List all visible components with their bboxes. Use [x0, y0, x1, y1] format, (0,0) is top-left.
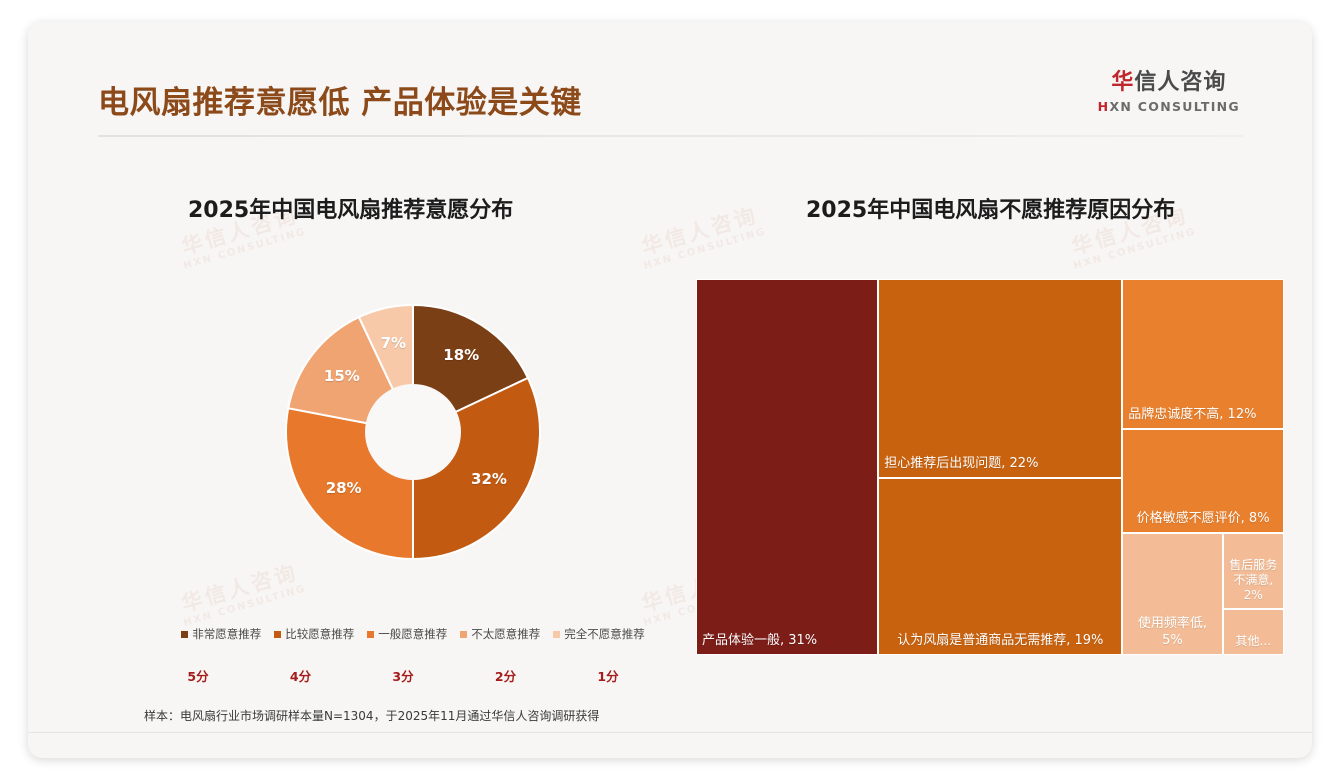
legend-swatch [181, 631, 188, 638]
treemap-cell[interactable]: 产品体验一般, 31% [696, 279, 878, 655]
score-label: 4分 [271, 666, 331, 685]
logo-chinese-rest: 信人咨询 [1134, 70, 1226, 95]
treemap-cell[interactable]: 其他... [1223, 609, 1284, 655]
donut-svg [268, 272, 558, 592]
score-label: 2分 [476, 666, 536, 685]
page-title: 电风扇推荐意愿低 产品体验是关键 [98, 77, 582, 122]
treemap-cell[interactable]: 品牌忠诚度不高, 12% [1122, 279, 1284, 429]
donut-slice-label: 28% [324, 479, 364, 497]
donut-legend: 非常愿意推荐比较愿意推荐一般愿意推荐不太愿意推荐完全不愿意推荐 [148, 626, 678, 642]
logo-chinese: 华信人咨询 [1098, 64, 1240, 96]
donut-slice-label: 18% [441, 346, 481, 364]
treemap-cell-label: 其他... [1227, 634, 1280, 649]
treemap-column: 售后服务不满意, 2% 其他... [1223, 533, 1284, 655]
treemap-cell-label: 担心推荐后出现问题, 22% [884, 456, 1116, 472]
treemap-cell[interactable]: 价格敏感不愿评价, 8% [1122, 429, 1284, 532]
treemap-cell[interactable]: 使用频率低, 5% [1122, 533, 1222, 655]
score-label: 3分 [373, 666, 433, 685]
treemap-cell-label: 品牌忠诚度不高, 12% [1128, 407, 1278, 423]
donut-hole [365, 384, 461, 480]
score-label: 1分 [578, 666, 638, 685]
treemap-cell-label: 使用频率低, 5% [1128, 616, 1216, 649]
treemap-cell[interactable]: 认为风扇是普通商品无需推荐, 19% [878, 478, 1122, 655]
legend-item[interactable]: 一般愿意推荐 [367, 626, 447, 642]
donut-slice-label: 7% [373, 334, 413, 352]
legend-label: 不太愿意推荐 [471, 626, 540, 642]
score-label: 5分 [168, 666, 228, 685]
left-chart-title: 2025年中国电风扇推荐意愿分布 [188, 192, 513, 224]
treemap-cell-label: 认为风扇是普通商品无需推荐, 19% [884, 633, 1116, 649]
treemap-row: 使用频率低, 5% 售后服务不满意, 2% 其他... [1122, 533, 1284, 655]
logo-chinese-accent: 华 [1111, 70, 1134, 95]
treemap-cell[interactable]: 售后服务不满意, 2% [1223, 533, 1284, 609]
treemap-cell-label: 售后服务不满意, 2% [1227, 558, 1280, 603]
legend-swatch [274, 631, 281, 638]
watermark-line1: 华信人咨询 [636, 203, 765, 261]
legend-swatch [460, 631, 467, 638]
watermark-line2: HXN CONSULTING [642, 226, 767, 272]
treemap-column: 品牌忠诚度不高, 12% 价格敏感不愿评价, 8% 使用频率低, 5% 售后服务… [1122, 279, 1284, 655]
treemap-cell-label: 价格敏感不愿评价, 8% [1128, 511, 1278, 527]
treemap-column: 担心推荐后出现问题, 22% 认为风扇是普通商品无需推荐, 19% [878, 279, 1122, 655]
score-scale-row: 5分4分3分2分1分 [168, 666, 638, 685]
treemap-cell[interactable]: 担心推荐后出现问题, 22% [878, 279, 1122, 478]
donut-slice-label: 15% [322, 367, 362, 385]
brand-logo: 华信人咨询 HXN CONSULTING [1098, 64, 1240, 114]
watermark-line2: HXN CONSULTING [1072, 226, 1197, 272]
treemap-cell-label: 产品体验一般, 31% [702, 633, 872, 649]
legend-item[interactable]: 非常愿意推荐 [181, 626, 261, 642]
sample-note: 样本：电风扇行业市场调研样本量N=1304，于2025年11月通过华信人咨询调研… [144, 707, 599, 724]
legend-swatch [367, 631, 374, 638]
slide-footer: ©2026.1 HXR华信人咨询 www.hxrcon.com [28, 732, 1312, 758]
donut-slice-label: 32% [469, 470, 509, 488]
reasons-treemap-chart: 产品体验一般, 31% 担心推荐后出现问题, 22% 认为风扇是普通商品无需推荐… [696, 279, 1284, 655]
logo-english: HXN CONSULTING [1098, 99, 1240, 114]
legend-item[interactable]: 不太愿意推荐 [460, 626, 540, 642]
right-chart-title: 2025年中国电风扇不愿推荐原因分布 [806, 192, 1175, 224]
legend-item[interactable]: 比较愿意推荐 [274, 626, 354, 642]
title-divider [98, 135, 1243, 137]
recommendation-donut-chart: 18%32%28%15%7% [268, 272, 558, 592]
legend-label: 非常愿意推荐 [192, 626, 261, 642]
logo-english-accent: H [1098, 99, 1110, 114]
watermark: 华信人咨询 HXN CONSULTING [636, 203, 768, 271]
legend-label: 比较愿意推荐 [285, 626, 354, 642]
legend-item[interactable]: 完全不愿意推荐 [553, 626, 645, 642]
slide-canvas: 华信人咨询 HXN CONSULTING 华信人咨询 HXN CONSULTIN… [28, 22, 1312, 758]
slide-header: 电风扇推荐意愿低 产品体验是关键 华信人咨询 HXN CONSULTING [28, 22, 1312, 128]
legend-label: 一般愿意推荐 [378, 626, 447, 642]
legend-label: 完全不愿意推荐 [564, 626, 645, 642]
legend-swatch [553, 631, 560, 638]
watermark-line2: HXN CONSULTING [182, 226, 307, 272]
logo-english-rest: XN CONSULTING [1109, 99, 1240, 114]
